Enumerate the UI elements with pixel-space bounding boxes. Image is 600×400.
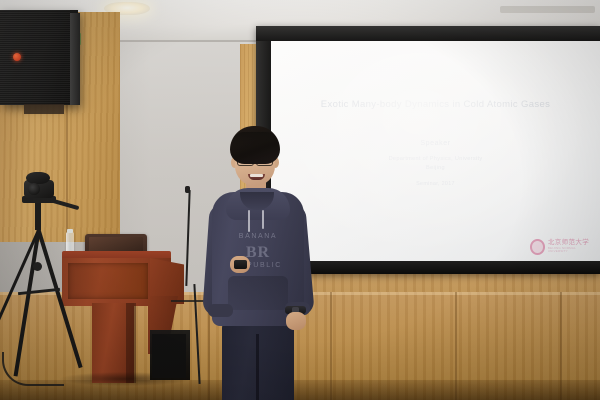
pa-speaker-grille — [0, 10, 70, 105]
video-camera-hood — [26, 172, 50, 184]
hoodie-drawstring-left — [248, 210, 250, 232]
equipment-case-face — [152, 334, 186, 378]
tripod-neck — [35, 202, 41, 230]
university-logo: 北京师范大学 BEIJING NORMAL UNIVERSITY — [530, 238, 592, 255]
university-name-en: BEIJING NORMAL UNIVERSITY — [548, 247, 592, 253]
pa-speaker-bracket — [24, 104, 64, 114]
podium-column-shadow — [126, 303, 136, 383]
presenter-hair-fringe — [232, 132, 278, 148]
tripod-lock-knob — [33, 262, 42, 271]
presenter-teeth — [250, 174, 263, 177]
university-logo-mark-icon — [530, 239, 545, 255]
presenter-leg-seam — [256, 334, 259, 400]
university-logo-text: 北京师范大学 BEIJING NORMAL UNIVERSITY — [548, 240, 592, 254]
lecture-photo-scene: Exotic Many-body Dynamics in Cold Atomic… — [0, 0, 600, 400]
hoodie-drawstring-right — [262, 210, 264, 229]
hoodie-cuff-left — [208, 304, 233, 317]
projector-glow — [271, 41, 600, 261]
power-led-icon — [13, 53, 21, 61]
podium-front-panel — [68, 263, 148, 299]
hoodie-pocket — [228, 276, 288, 310]
presenter: BANANA BR REPUBLIC — [196, 126, 320, 400]
hoodie-brand-line1: BANANA — [228, 233, 288, 240]
camera-lens-icon — [28, 183, 40, 195]
presentation-remote — [234, 260, 247, 269]
projection-screen-top-bar — [256, 26, 600, 41]
ceiling-vent — [500, 6, 595, 13]
water-bottle-cap — [67, 229, 73, 233]
pa-speaker-side — [70, 13, 80, 105]
presenter-hand-right — [286, 312, 306, 330]
